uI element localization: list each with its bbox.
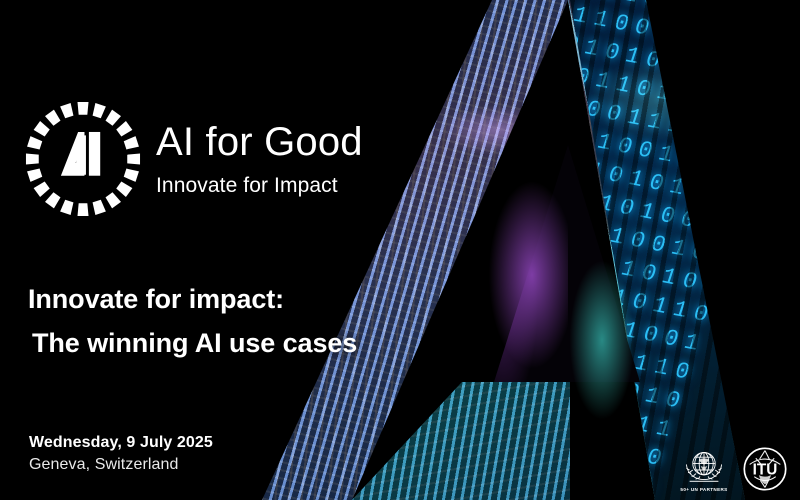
brand-lockup: AI for Good Innovate for Impact [24, 100, 363, 218]
un-emblem-icon [678, 446, 730, 486]
headline-line-1: Innovate for impact: [28, 277, 357, 321]
slide-headline: Innovate for impact: The winning AI use … [28, 277, 357, 365]
brand-title: AI for Good [156, 122, 363, 162]
slide-foreground: AI for Good Innovate for Impact Innovate… [0, 0, 800, 500]
event-info: Wednesday, 9 July 2025 Geneva, Switzerla… [29, 432, 213, 476]
itu-globe-icon: ITU [742, 446, 788, 492]
event-location: Geneva, Switzerland [29, 454, 213, 476]
brand-text: AI for Good Innovate for Impact [156, 122, 363, 196]
ai-for-good-ring-logo-icon [24, 100, 142, 218]
presentation-slide: 10100110010 01101001011 11001011010 0101… [0, 0, 800, 500]
un-partners-caption: 50+ UN PARTNERS [680, 487, 727, 492]
headline-line-2: The winning AI use cases [32, 321, 357, 365]
itu-label: ITU [753, 461, 778, 478]
event-date: Wednesday, 9 July 2025 [29, 432, 213, 454]
brand-tagline: Innovate for Impact [156, 175, 363, 196]
un-partners-lockup: 50+ UN PARTNERS [678, 446, 730, 492]
partner-logos: 50+ UN PARTNERS ITU [678, 446, 788, 492]
